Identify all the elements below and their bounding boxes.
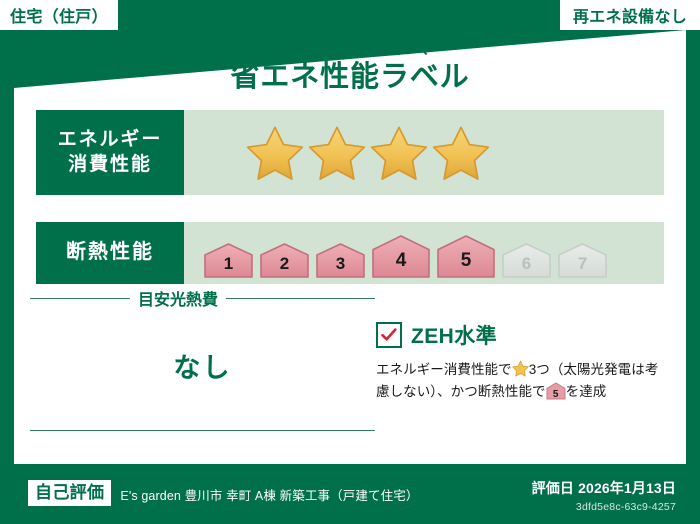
- star-icon: [432, 124, 490, 182]
- star-icon: [246, 124, 304, 182]
- insulation-grade-3: 3: [314, 242, 367, 280]
- footer-right: 評価日 2026年1月13日 3dfd5e8c-63c9-4257: [532, 478, 676, 513]
- insulation-grade-2: 2: [258, 242, 311, 280]
- energy-label-line1: エネルギー: [58, 128, 163, 152]
- star-icon: [512, 360, 529, 377]
- zeh-description: エネルギー消費性能で 3つ（太陽光発電は考慮しない）、かつ断熱性能で 5を達成: [376, 359, 670, 403]
- evaluation-id: 3dfd5e8c-63c9-4257: [532, 501, 676, 513]
- divider-left: [30, 298, 130, 299]
- star-icon: [370, 124, 428, 182]
- utility-cost-heading: 目安光熱費: [30, 286, 375, 310]
- insulation-label-line1: 断熱性能: [66, 240, 154, 266]
- zeh-block: ZEH水準 エネルギー消費性能で 3つ（太陽光発電は考慮しない）、かつ断熱性能で…: [376, 320, 670, 403]
- evaluation-date: 評価日 2026年1月13日: [532, 478, 676, 498]
- energy-performance-row: エネルギー 消費性能: [36, 110, 664, 195]
- house-icon: 5: [546, 382, 566, 400]
- zeh-desc-part4: を達成: [566, 384, 607, 399]
- insulation-grade-1: 1: [202, 242, 255, 280]
- divider-right: [226, 298, 375, 299]
- title-subtitle: 建築物省エネ法に基づく: [0, 42, 700, 56]
- insulation-grade-4: 4: [370, 234, 432, 280]
- footer-left: 自己評価 E's garden 豊川市 幸町 A棟 新築工事（戸建て住宅）: [28, 480, 418, 506]
- zeh-desc-part1: エネルギー消費性能で: [376, 362, 512, 377]
- title-block: 建築物省エネ法に基づく 省エネ性能ラベル: [0, 42, 700, 92]
- project-name: E's garden 豊川市 幸町 A棟 新築工事（戸建て住宅）: [120, 481, 418, 504]
- utility-cost-block: 目安光熱費 なし: [30, 286, 375, 385]
- zeh-desc-part2: 3つ（太陽光発電: [529, 362, 632, 377]
- star-icon: [308, 124, 366, 182]
- zeh-title: ZEH水準: [411, 320, 497, 350]
- check-icon: [376, 322, 402, 348]
- self-evaluation-badge: 自己評価: [28, 480, 111, 506]
- energy-label-line2: 消費性能: [68, 153, 152, 177]
- insulation-grade-7: 7: [556, 242, 609, 280]
- insulation-performance-label-cell: 断熱性能: [36, 222, 184, 284]
- label-footer: 自己評価 E's garden 豊川市 幸町 A棟 新築工事（戸建て住宅） 評価…: [0, 464, 700, 524]
- house-icon-value: 5: [546, 390, 566, 400]
- energy-performance-label: 住宅（住戸） 再エネ設備なし 建築物省エネ法に基づく 省エネ性能ラベル エネルギ…: [0, 0, 700, 524]
- insulation-performance-row: 断熱性能 1234567: [36, 222, 664, 284]
- utility-cost-value: なし: [30, 346, 375, 385]
- insulation-grade-6: 6: [500, 242, 553, 280]
- utility-cost-heading-text: 目安光熱費: [138, 286, 218, 310]
- utility-cost-bottom-rule: [30, 430, 375, 431]
- tag-building-type: 住宅（住戸）: [0, 0, 118, 30]
- zeh-heading: ZEH水準: [376, 320, 670, 350]
- insulation-grade-5: 5: [435, 234, 497, 280]
- energy-performance-label-cell: エネルギー 消費性能: [36, 110, 184, 195]
- star-rating: [184, 110, 664, 195]
- page-title: 省エネ性能ラベル: [0, 63, 700, 92]
- insulation-grade-scale: 1234567: [184, 222, 664, 284]
- tag-renewable-energy: 再エネ設備なし: [560, 0, 700, 30]
